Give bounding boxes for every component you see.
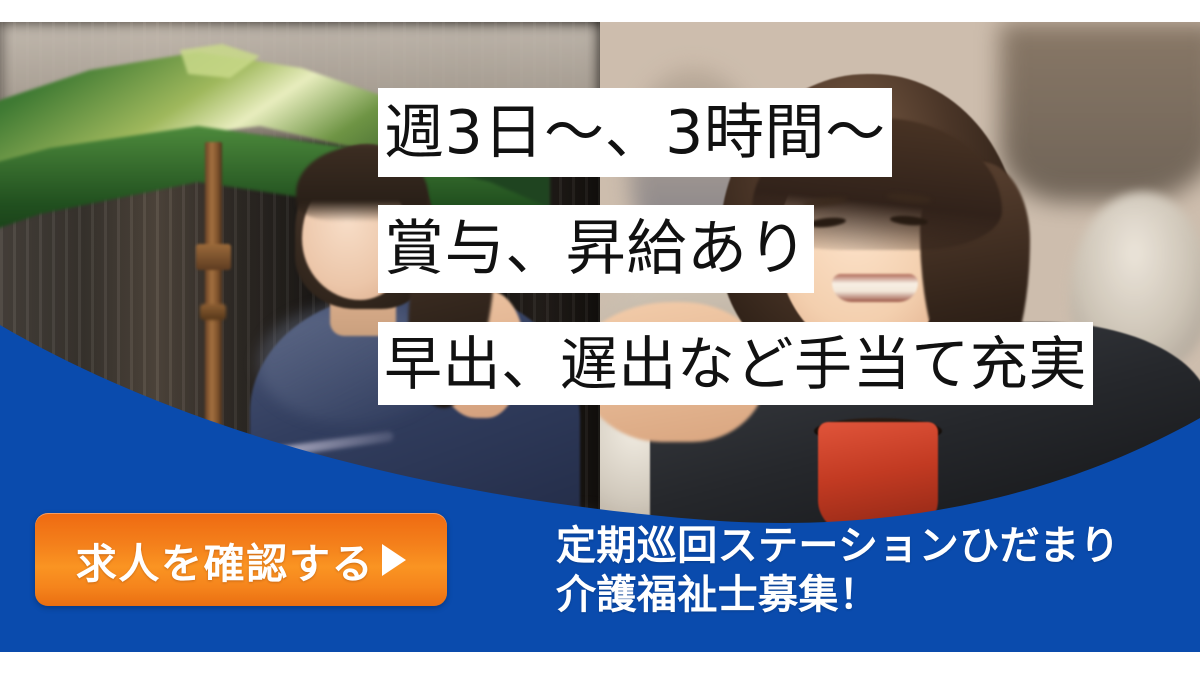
check-jobs-button-label: 求人を確認する bbox=[76, 530, 374, 590]
parasol-knob bbox=[200, 304, 226, 320]
headline-line-1: 週3日〜、3時間〜 bbox=[378, 88, 892, 177]
footer-copy: 定期巡回ステーションひだまり 介護福祉士募集！ bbox=[556, 522, 1176, 620]
caregiver-smile bbox=[832, 274, 918, 302]
background-shadow bbox=[1000, 22, 1200, 202]
play-triangle-icon bbox=[382, 544, 406, 576]
check-jobs-button[interactable]: 求人を確認する bbox=[35, 513, 447, 606]
headline-line-3: 早出、遅出など手当て充実 bbox=[378, 322, 1093, 405]
red-cup bbox=[818, 422, 938, 534]
footer-line-1: 定期巡回ステーションひだまり bbox=[556, 522, 1176, 571]
recruitment-banner: 週3日〜、3時間〜 賞与、昇給あり 早出、遅出など手当て充実 求人を確認する 定… bbox=[0, 0, 1200, 675]
parasol-joint bbox=[196, 244, 231, 270]
headline-line-2: 賞与、昇給あり bbox=[378, 205, 814, 293]
footer-line-2: 介護福祉士募集！ bbox=[556, 571, 1176, 620]
